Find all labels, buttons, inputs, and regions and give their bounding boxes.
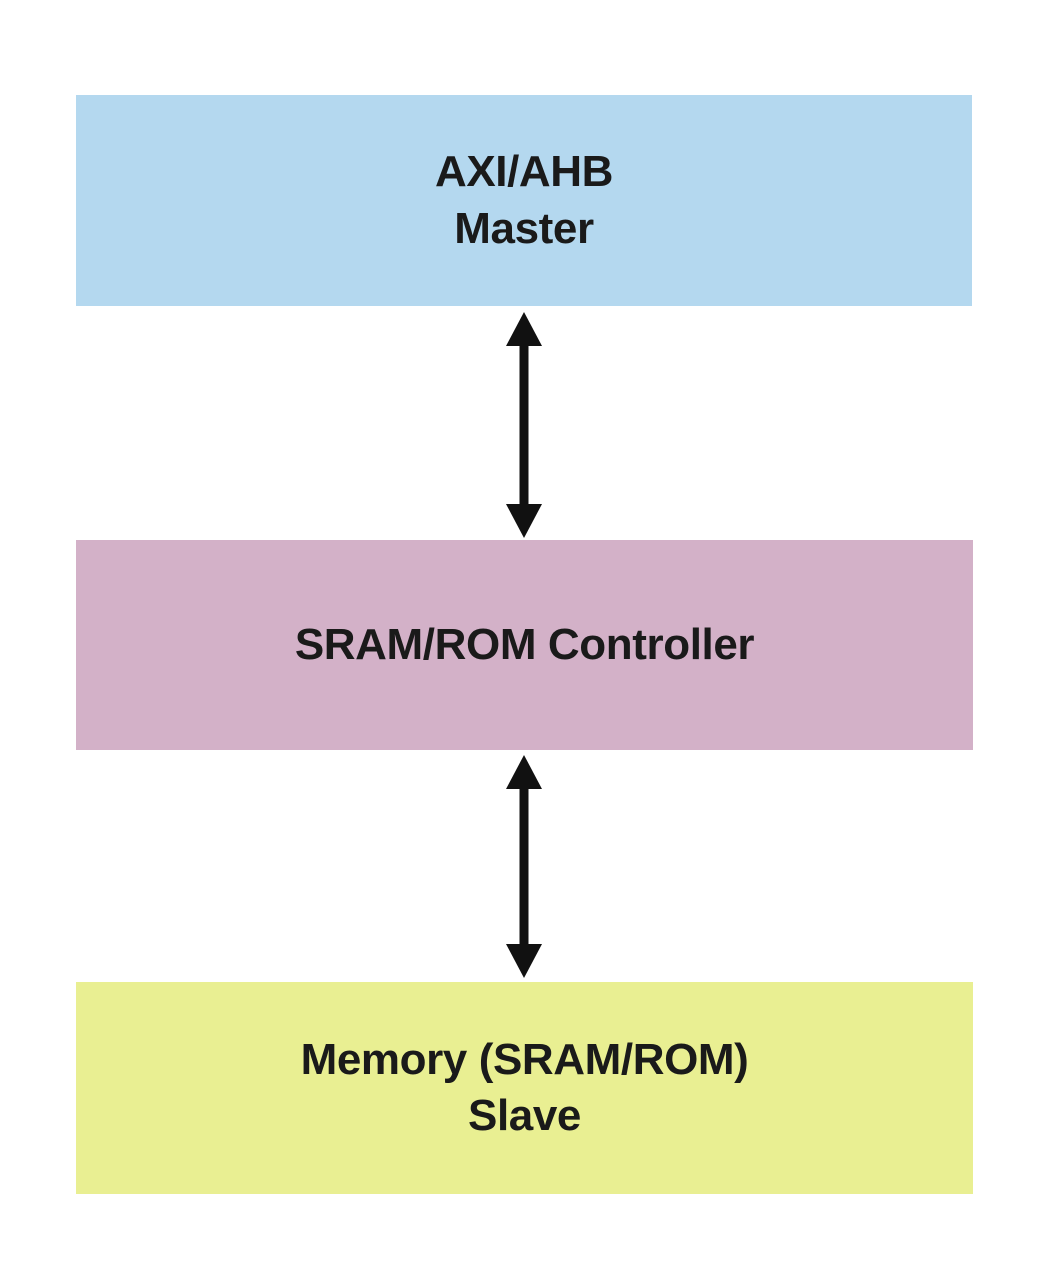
double-headed-arrow-icon: [496, 753, 552, 980]
block-memory-line-2: Slave: [468, 1088, 581, 1144]
block-master-line-2: Master: [454, 201, 593, 257]
block-sram-rom-controller[interactable]: SRAM/ROM Controller: [76, 540, 973, 750]
connector-controller-memory-double-arrow-icon: [496, 753, 552, 980]
block-memory-sram-rom-slave[interactable]: Memory (SRAM/ROM) Slave: [76, 982, 973, 1194]
block-memory-line-1: Memory (SRAM/ROM): [301, 1032, 749, 1088]
diagram-canvas: AXI/AHB Master SRAM/ROM Controller Memor…: [0, 0, 1046, 1279]
block-master-line-1: AXI/AHB: [435, 144, 613, 200]
block-axi-ahb-master[interactable]: AXI/AHB Master: [76, 95, 972, 306]
block-controller-line-1: SRAM/ROM Controller: [295, 617, 754, 673]
connector-master-controller-double-arrow-icon: [496, 310, 552, 540]
double-headed-arrow-icon: [496, 310, 552, 540]
